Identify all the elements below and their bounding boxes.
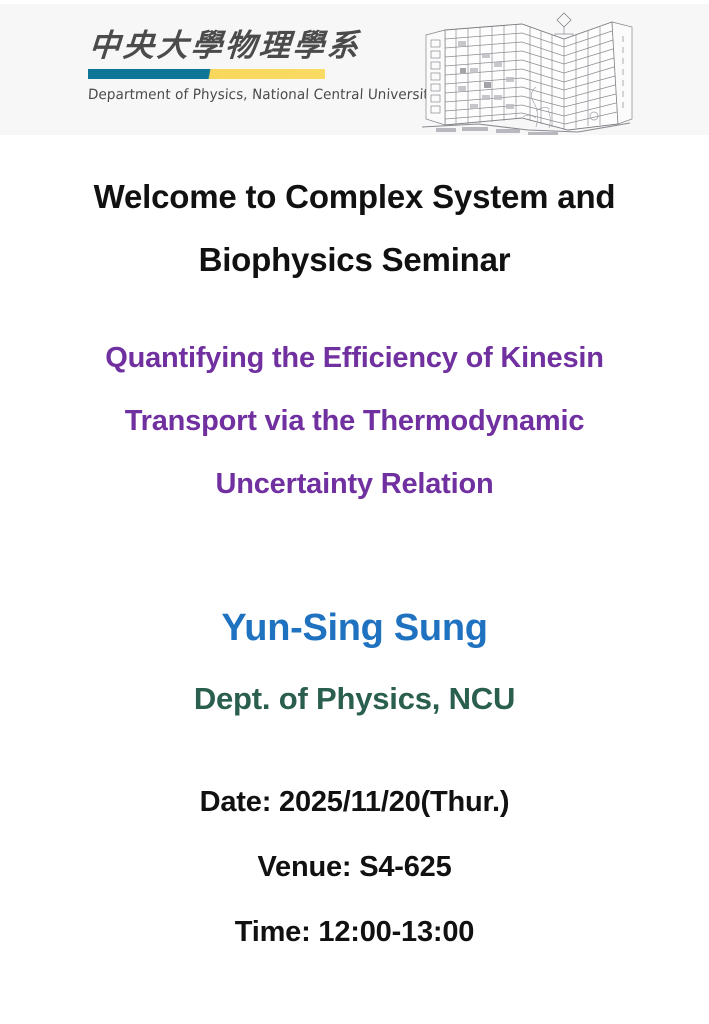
seminar-title-line-2: Transport via the Thermodynamic [0,407,709,436]
seminar-time: Time: 12:00-13:00 [0,918,709,947]
department-header-banner: 中央大學物理學系 Department of Physics, National… [0,4,709,135]
seminar-title: Quantifying the Efficiency of Kinesin Tr… [0,344,709,499]
seminar-venue: Venue: S4-625 [0,853,709,882]
logo-accent-bar [88,69,325,79]
seminar-title-line-1: Quantifying the Efficiency of Kinesin [0,344,709,373]
department-logo-chinese-text: 中央大學物理學系 [88,30,430,61]
welcome-heading-line-1: Welcome to Complex System and [0,180,709,213]
seminar-date: Date: 2025/11/20(Thur.) [0,788,709,817]
welcome-heading: Welcome to Complex System and Biophysics… [0,180,709,276]
speaker-name: Yun-Sing Sung [0,609,709,647]
department-logo: 中央大學物理學系 Department of Physics, National… [88,30,428,103]
ncu-physics-building-sketch-icon [418,6,680,135]
department-logo-english-text: Department of Physics, National Central … [88,87,429,104]
speaker-affiliation: Dept. of Physics, NCU [0,683,709,714]
poster-content: Welcome to Complex System and Biophysics… [0,135,709,947]
seminar-title-line-3: Uncertainty Relation [0,470,709,499]
seminar-logistics: Date: 2025/11/20(Thur.) Venue: S4-625 Ti… [0,788,709,947]
welcome-heading-line-2: Biophysics Seminar [0,243,709,276]
